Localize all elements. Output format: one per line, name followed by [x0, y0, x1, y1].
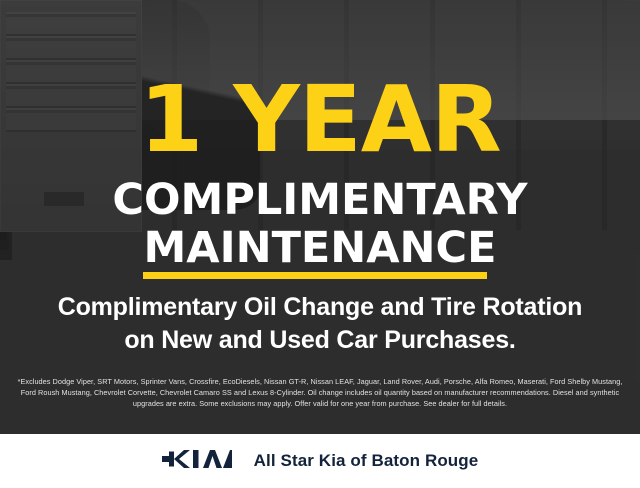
dealer-footer-bar: All Star Kia of Baton Rouge [0, 434, 640, 488]
dealer-name: All Star Kia of Baton Rouge [254, 451, 479, 471]
yellow-divider-rule [143, 272, 487, 279]
banner-content: 1 YEAR COMPLIMENTARY MAINTENANCE Complim… [0, 0, 640, 488]
offer-line-1: Complimentary Oil Change and Tire Rotati… [0, 291, 640, 324]
headline-year: 1 YEAR [0, 74, 640, 166]
headline-subtitle: COMPLIMENTARY MAINTENANCE [0, 176, 640, 272]
disclaimer-text: *Excludes Dodge Viper, SRT Motors, Sprin… [14, 376, 626, 409]
offer-line-2: on New and Used Car Purchases. [0, 324, 640, 357]
headline-subtitle-line-1: COMPLIMENTARY [0, 176, 640, 224]
headline-subtitle-line-2: MAINTENANCE [0, 224, 640, 272]
offer-description: Complimentary Oil Change and Tire Rotati… [0, 291, 640, 356]
kia-logo-icon [162, 449, 232, 474]
promotional-banner: 1 YEAR COMPLIMENTARY MAINTENANCE Complim… [0, 0, 640, 488]
